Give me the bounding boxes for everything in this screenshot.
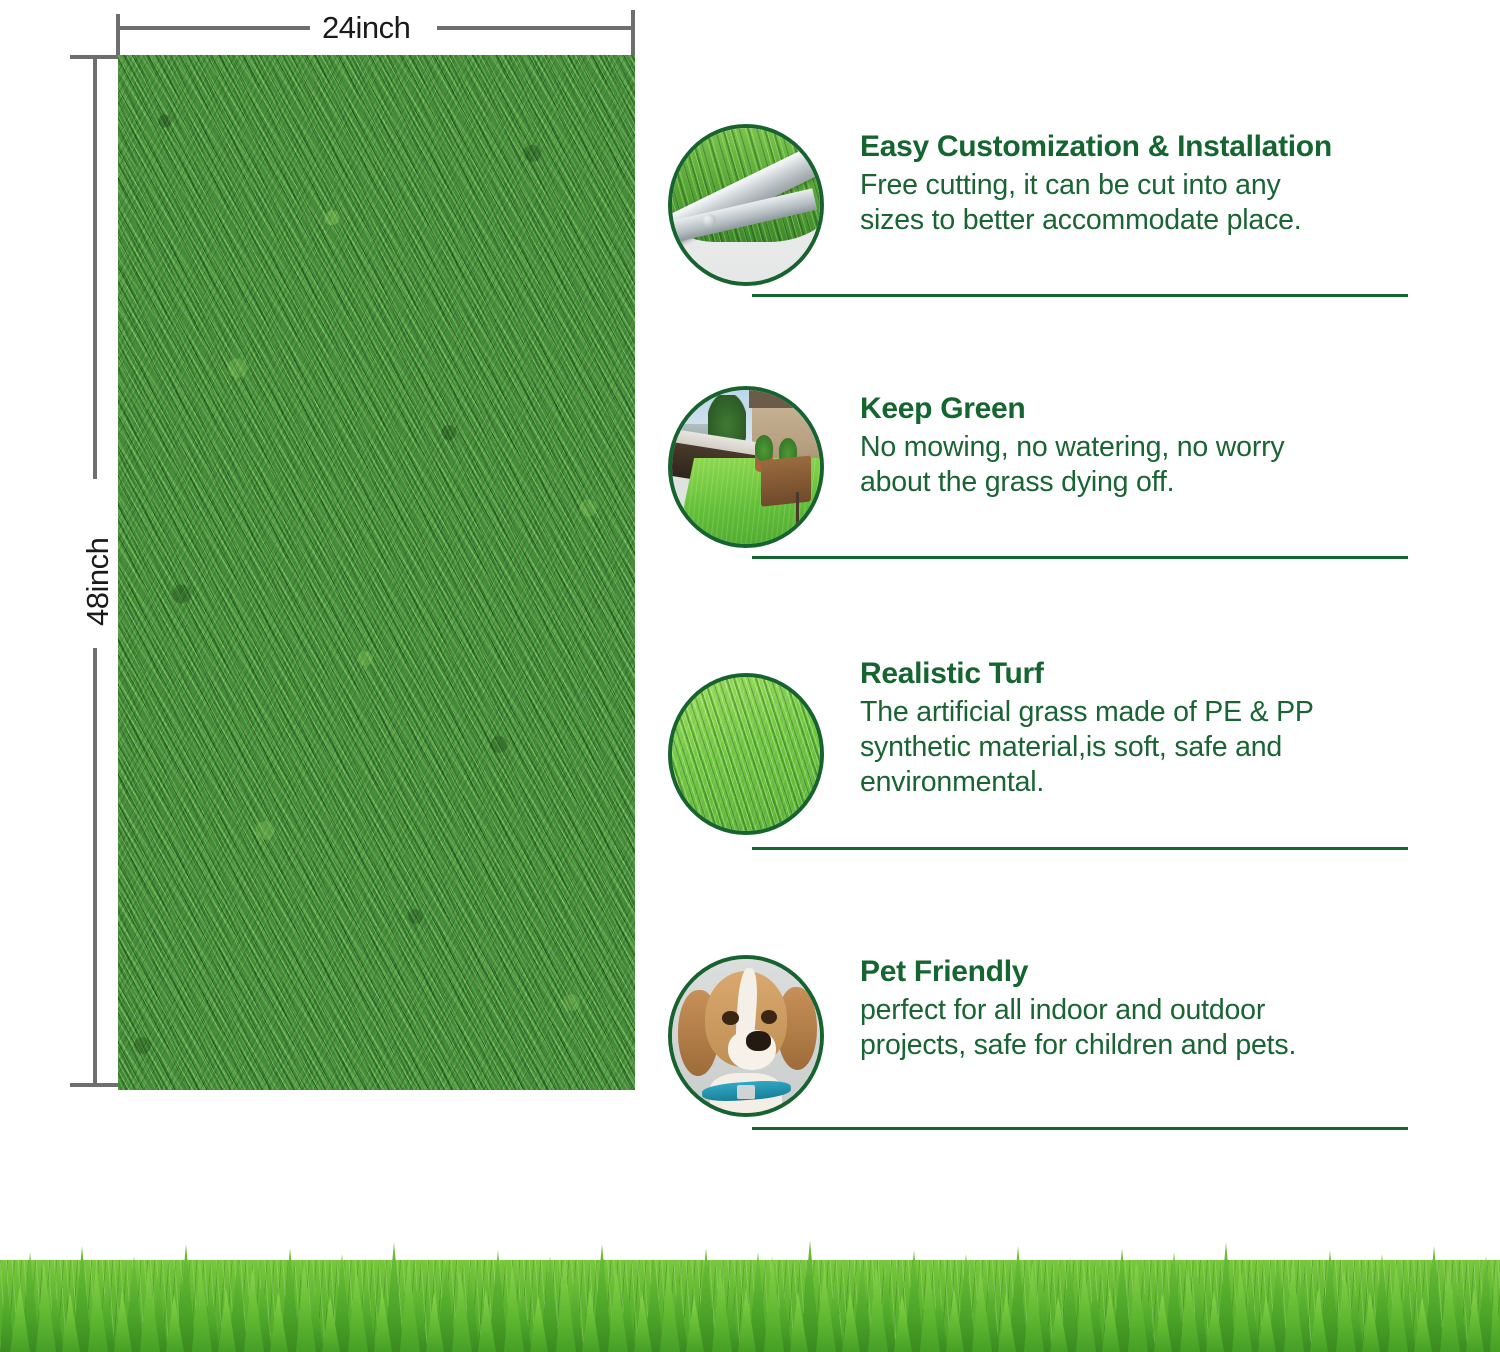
artificial-grass-panel bbox=[118, 55, 635, 1090]
feature-description-line: about the grass dying off. bbox=[860, 465, 1420, 500]
dimension-line-height-bottom bbox=[93, 648, 97, 1085]
grass-border-strip bbox=[0, 1222, 1500, 1352]
grass-blade-silhouettes bbox=[0, 1222, 1500, 1352]
feature-description-line: synthetic material,is soft, safe and bbox=[860, 730, 1420, 765]
dimension-extension-line-top-left bbox=[116, 14, 120, 59]
dimension-extension-line-top-right bbox=[631, 10, 635, 60]
feature-image-rooftop-terrace-lawn bbox=[668, 386, 824, 548]
feature-description-line: perfect for all indoor and outdoor bbox=[860, 993, 1420, 1028]
feature-description-line: The artificial grass made of PE & PP bbox=[860, 695, 1420, 730]
feature-text-block: Realistic Turf The artificial grass made… bbox=[860, 651, 1420, 800]
feature-description-line: No mowing, no watering, no worry bbox=[860, 430, 1420, 465]
feature-description-line: environmental. bbox=[860, 765, 1420, 800]
dimension-label-width: 24inch bbox=[322, 10, 410, 46]
infographic-canvas: 24inch 48inch Easy Customization & I bbox=[0, 0, 1500, 1352]
feature-text-block: Easy Customization & Installation Free c… bbox=[860, 124, 1420, 238]
feature-divider-rule bbox=[752, 1127, 1408, 1130]
feature-description-line: Free cutting, it can be cut into any bbox=[860, 168, 1420, 203]
feature-title: Realistic Turf bbox=[860, 657, 1420, 691]
feature-image-turf-closeup bbox=[668, 673, 824, 835]
feature-item-realistic-turf: Realistic Turf The artificial grass made… bbox=[660, 651, 1420, 949]
feature-divider-rule bbox=[752, 294, 1408, 297]
feature-image-beagle-puppy bbox=[668, 955, 824, 1117]
dimension-line-height-top bbox=[93, 57, 97, 479]
feature-text-block: Pet Friendly perfect for all indoor and … bbox=[860, 949, 1420, 1063]
feature-title: Keep Green bbox=[860, 392, 1420, 426]
dimension-label-height: 48inch bbox=[80, 538, 116, 626]
feature-description-line: sizes to better accommodate place. bbox=[860, 203, 1420, 238]
turf-mottle-texture bbox=[118, 55, 635, 1090]
feature-divider-rule bbox=[752, 847, 1408, 850]
feature-item-pet-friendly: Pet Friendly perfect for all indoor and … bbox=[660, 949, 1420, 1179]
feature-item-easy-customization: Easy Customization & Installation Free c… bbox=[660, 124, 1420, 386]
dimension-line-width-left bbox=[120, 26, 310, 30]
feature-item-keep-green: Keep Green No mowing, no watering, no wo… bbox=[660, 386, 1420, 651]
feature-text-block: Keep Green No mowing, no watering, no wo… bbox=[860, 386, 1420, 500]
feature-divider-rule bbox=[752, 556, 1408, 559]
feature-title: Pet Friendly bbox=[860, 955, 1420, 989]
feature-image-scissors-cutting-turf bbox=[668, 124, 824, 286]
feature-title: Easy Customization & Installation bbox=[860, 130, 1420, 164]
feature-list: Easy Customization & Installation Free c… bbox=[660, 124, 1420, 1179]
dimension-line-width-right bbox=[437, 26, 633, 30]
feature-description-line: projects, safe for children and pets. bbox=[860, 1028, 1420, 1063]
